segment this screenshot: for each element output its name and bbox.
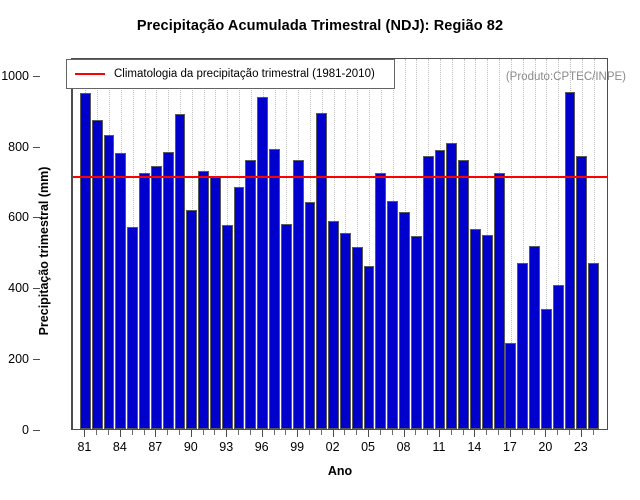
- plot-area: [72, 58, 608, 430]
- y-tick-label: 0: [22, 423, 29, 437]
- x-tick-mark: [191, 430, 192, 437]
- x-tick-mark-minor: [108, 430, 109, 435]
- page-title: Precipitação Acumulada Trimestral (NDJ):…: [0, 18, 640, 34]
- x-tick-mark: [581, 430, 582, 437]
- x-tick-mark: [545, 430, 546, 437]
- x-tick-mark-minor: [463, 430, 464, 435]
- x-tick-mark-minor: [356, 430, 357, 435]
- x-tick-label: 81: [77, 440, 91, 454]
- x-tick-mark: [120, 430, 121, 437]
- x-tick-mark: [404, 430, 405, 437]
- x-tick-mark-minor: [203, 430, 204, 435]
- y-tick-label: 200: [8, 352, 29, 366]
- x-tick-mark: [510, 430, 511, 437]
- legend: Climatologia da precipitação trimestral …: [66, 59, 395, 89]
- x-tick-mark-minor: [179, 430, 180, 435]
- x-tick-mark: [226, 430, 227, 437]
- x-tick-mark-minor: [144, 430, 145, 435]
- x-tick-label: 08: [397, 440, 411, 454]
- x-tick-mark-minor: [392, 430, 393, 435]
- x-tick-mark: [368, 430, 369, 437]
- x-axis: 818487909396990205081114172023: [72, 430, 608, 490]
- x-tick-label: 93: [219, 440, 233, 454]
- x-tick-label: 11: [432, 440, 445, 454]
- y-tick-label: 400: [8, 281, 29, 295]
- x-tick-label: 84: [113, 440, 127, 454]
- x-tick-mark: [439, 430, 440, 437]
- legend-item-label: Climatologia da precipitação trimestral …: [114, 68, 375, 80]
- x-tick-mark-minor: [96, 430, 97, 435]
- x-tick-mark-minor: [344, 430, 345, 435]
- y-tick-mark: [33, 217, 40, 218]
- precipitation-bar-chart: Precipitação Acumulada Trimestral (NDJ):…: [0, 0, 640, 500]
- x-tick-label: 23: [574, 440, 588, 454]
- x-tick-mark-minor: [415, 430, 416, 435]
- x-tick-mark-minor: [285, 430, 286, 435]
- y-tick-mark: [33, 288, 40, 289]
- x-tick-mark-minor: [274, 430, 275, 435]
- producer-credit: (Produto:CPTEC/INPE): [506, 71, 626, 83]
- climatology-reference-line: [73, 176, 607, 178]
- climatology-layer: [73, 59, 607, 429]
- y-tick-mark: [33, 359, 40, 360]
- x-tick-mark: [474, 430, 475, 437]
- x-tick-mark-minor: [486, 430, 487, 435]
- x-axis-title: Ano: [72, 464, 608, 478]
- x-tick-mark-minor: [569, 430, 570, 435]
- x-tick-mark-minor: [451, 430, 452, 435]
- y-tick-mark: [33, 76, 40, 77]
- x-tick-label: 17: [503, 440, 517, 454]
- x-tick-mark-minor: [214, 430, 215, 435]
- x-tick-mark-minor: [132, 430, 133, 435]
- x-tick-label: 96: [255, 440, 269, 454]
- y-tick-label: 600: [8, 210, 29, 224]
- y-tick-mark: [33, 147, 40, 148]
- y-axis: Precipitação trimestral (mm) 02004006008…: [0, 0, 72, 500]
- x-tick-mark-minor: [309, 430, 310, 435]
- x-tick-mark-minor: [238, 430, 239, 435]
- x-tick-mark: [84, 430, 85, 437]
- x-tick-mark: [297, 430, 298, 437]
- x-tick-mark: [333, 430, 334, 437]
- y-tick-mark: [33, 430, 40, 431]
- x-tick-mark-minor: [250, 430, 251, 435]
- x-tick-label: 99: [290, 440, 304, 454]
- x-tick-mark: [262, 430, 263, 437]
- x-tick-mark-minor: [534, 430, 535, 435]
- x-tick-mark-minor: [498, 430, 499, 435]
- x-tick-mark-minor: [380, 430, 381, 435]
- x-tick-label: 90: [184, 440, 198, 454]
- x-tick-label: 02: [326, 440, 340, 454]
- y-tick-label: 800: [8, 140, 29, 154]
- x-tick-mark: [155, 430, 156, 437]
- x-tick-mark-minor: [167, 430, 168, 435]
- x-tick-label: 20: [538, 440, 552, 454]
- legend-line-swatch: [75, 73, 105, 75]
- x-tick-mark-minor: [321, 430, 322, 435]
- x-tick-label: 87: [148, 440, 162, 454]
- x-tick-label: 14: [467, 440, 481, 454]
- x-tick-mark-minor: [427, 430, 428, 435]
- x-tick-mark-minor: [593, 430, 594, 435]
- x-tick-label: 05: [361, 440, 375, 454]
- y-tick-label: 1000: [1, 69, 29, 83]
- x-tick-mark-minor: [522, 430, 523, 435]
- x-tick-mark-minor: [557, 430, 558, 435]
